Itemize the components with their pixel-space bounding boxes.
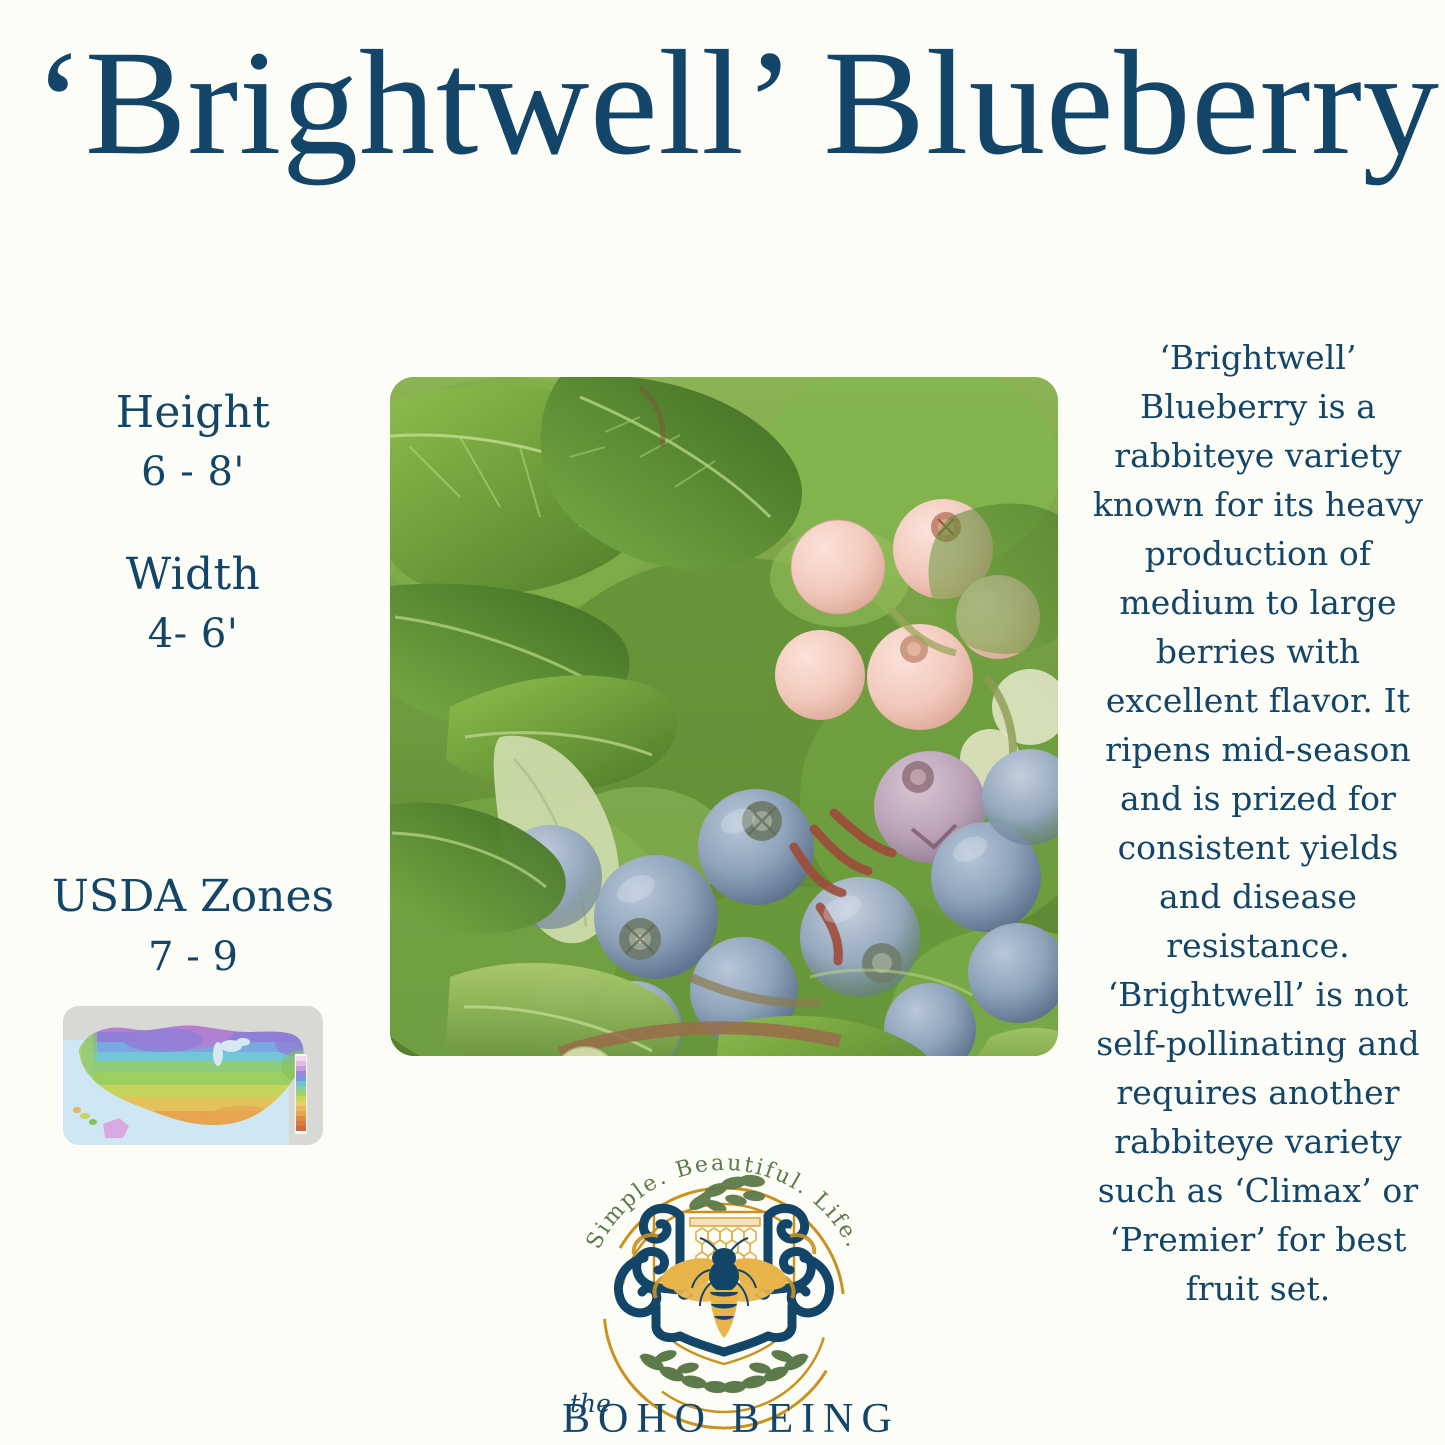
spec-width-label: Width [18, 547, 368, 603]
spec-height-label: Height [18, 385, 368, 441]
logo-tagline-text: Simple. Beautiful. Life. [582, 1151, 867, 1253]
logo-brand-text: BOHO BEING [562, 1396, 900, 1435]
spec-height: Height 6 - 8' [18, 385, 368, 503]
spec-width: Width 4- 6' [18, 547, 368, 665]
blueberry-photo [390, 377, 1058, 1056]
plant-specs: Height 6 - 8' Width 4- 6' [18, 385, 368, 709]
plant-description: ‘Brightwell’ Blueberry is a rabbiteye va… [1092, 333, 1424, 1313]
page-title: ‘Brightwell’ Blueberry [26, 28, 1445, 178]
usda-hardiness-map-image [63, 1006, 323, 1145]
usda-zones-label: USDA Zones [18, 868, 368, 926]
spec-height-value: 6 - 8' [18, 441, 368, 503]
spec-width-value: 4- 6' [18, 603, 368, 665]
plant-info-card: ‘Brightwell’ Blueberry Height 6 - 8' Wid… [0, 0, 1445, 1445]
usda-zones: USDA Zones 7 - 9 [18, 868, 368, 988]
usda-zones-value: 7 - 9 [18, 926, 368, 988]
brand-logo: Simple. Beautiful. Life. [548, 1140, 900, 1435]
